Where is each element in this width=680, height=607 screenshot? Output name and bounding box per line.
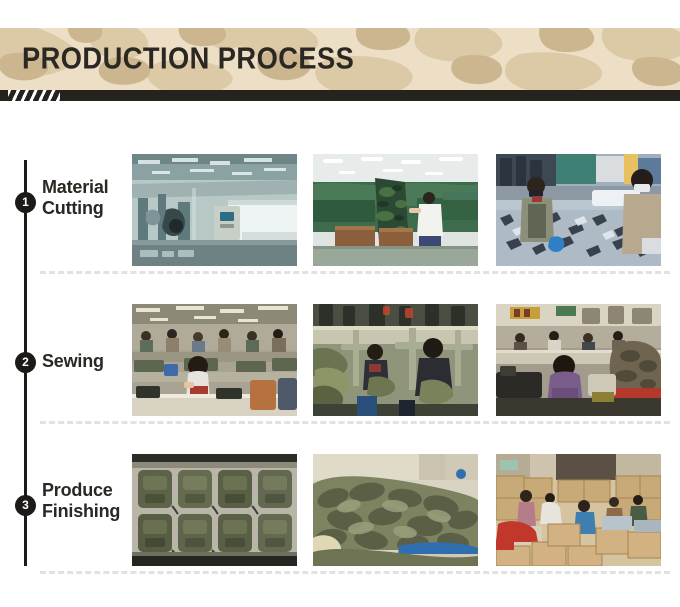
header-underbar — [0, 90, 680, 101]
step-number-badge: 2 — [15, 352, 36, 373]
process-steps: 1 Material Cutting — [0, 140, 680, 590]
step-divider — [40, 571, 670, 574]
sewing-floor-image — [132, 304, 297, 416]
process-step: 1 Material Cutting — [0, 140, 680, 290]
header-banner: PRODUCTION PROCESS — [0, 28, 680, 90]
step-label: Sewing — [42, 351, 104, 372]
photo-thumbnail[interactable] — [313, 154, 478, 266]
photo-thumbnail[interactable] — [496, 304, 661, 416]
photo-thumbnail[interactable] — [132, 154, 297, 266]
step-label-line: Finishing — [42, 501, 120, 522]
step-photo-row — [132, 304, 676, 416]
step-divider — [40, 271, 670, 274]
photo-thumbnail[interactable] — [132, 304, 297, 416]
photo-thumbnail[interactable] — [132, 454, 297, 566]
step-photo-row — [132, 154, 676, 266]
step-number-badge: 3 — [15, 495, 36, 516]
step-divider — [40, 421, 670, 424]
diagonal-stripes-accent — [8, 90, 60, 101]
photo-thumbnail[interactable] — [496, 154, 661, 266]
process-step: 3 Produce Finishing — [0, 440, 680, 590]
photo-thumbnail[interactable] — [496, 454, 661, 566]
step-label-line: Material — [42, 177, 108, 198]
sewing-line-image — [496, 304, 661, 416]
sewing-machines-closeup-image — [313, 304, 478, 416]
process-step: 2 Sewing — [0, 290, 680, 440]
step-label: Produce Finishing — [42, 480, 120, 522]
photo-thumbnail[interactable] — [313, 454, 478, 566]
packing-area-image — [496, 454, 661, 566]
weaving-looms-image — [132, 154, 297, 266]
step-number-badge: 1 — [15, 192, 36, 213]
step-photo-row — [132, 454, 676, 566]
page-title: PRODUCTION PROCESS — [22, 40, 400, 76]
fabric-inspection-image — [313, 154, 478, 266]
step-label-line: Produce — [42, 480, 120, 501]
bag-pile-image — [313, 454, 478, 566]
step-label: Material Cutting — [42, 177, 108, 219]
photo-thumbnail[interactable] — [313, 304, 478, 416]
step-label-line: Sewing — [42, 351, 104, 372]
finished-backpacks-image — [132, 454, 297, 566]
step-label-line: Cutting — [42, 198, 108, 219]
fabric-cutting-image — [496, 154, 661, 266]
